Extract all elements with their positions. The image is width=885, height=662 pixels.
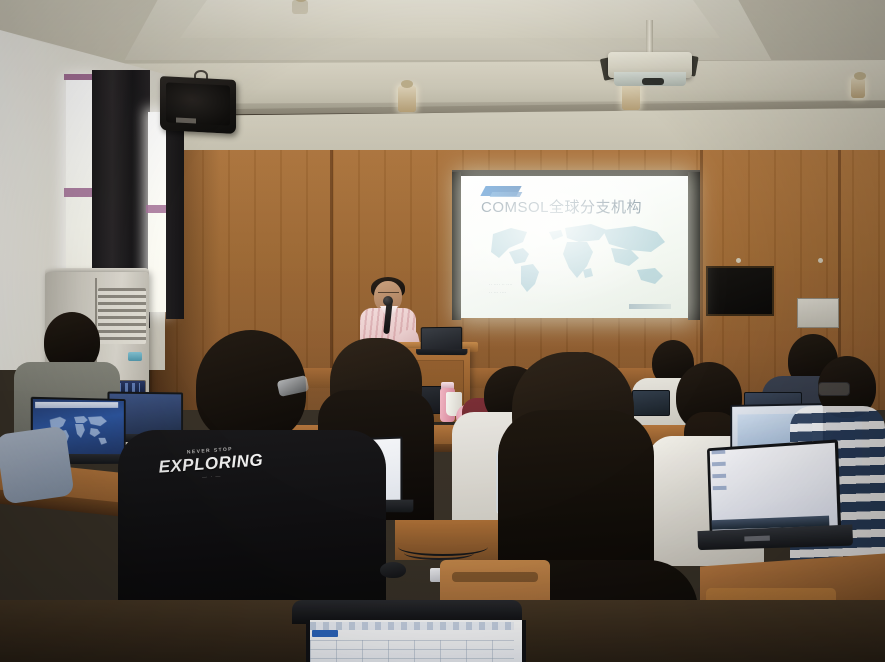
chair-backrest-slot [452,572,538,582]
lecture-hall-photo: COMSOL全球分支机构 ·· ···· ·· ···· ·· ··· ···· [0,0,885,662]
ac-vent-louvers [98,288,146,344]
spotlight-icon [622,84,640,110]
window-frame [64,74,94,80]
slide-footer-mark [629,304,671,309]
spotlight-icon [398,86,416,112]
computer-mouse-icon [380,562,406,578]
spreadsheet-active-tab[interactable] [312,630,338,637]
cable [404,546,474,560]
screen-border-left [452,172,461,320]
ceiling-recess-inner [180,0,720,38]
wall-hook-icon [736,258,741,263]
laptop-podium-base [416,349,467,355]
glasses-icon [818,382,850,396]
projector-mount-pole [646,20,653,56]
laptop-brand-badge [744,536,770,542]
laptop-back-row [632,390,670,416]
window-mullion [64,188,94,197]
slide-title: COMSOL全球分支机构 [481,196,681,217]
speaker-badge [176,117,196,123]
wall-hook-icon [818,258,823,263]
screen-border-right [688,172,700,320]
slide-bullet: ·· ···· ·· ···· [489,282,513,287]
ac-brand-badge [128,352,142,361]
spotlight-icon [851,78,865,98]
ceiling-fixture-icon [292,0,308,14]
projector-lens-icon [642,78,664,85]
blackout-curtain [166,104,184,319]
spreadsheet-ribbon[interactable] [310,622,514,630]
desktop-icons [712,450,727,490]
spreadsheet-grid[interactable] [310,640,514,662]
student-left-arm [0,425,75,504]
laptop-window-titlebar [35,402,118,408]
pull-down-projection-screen: COMSOL全球分支机构 ·· ···· ·· ···· ·· ··· ···· [461,176,688,318]
microphone-head-icon [383,296,393,306]
slide-bullet: ·· ··· ···· [489,290,507,295]
wall-panel [797,298,839,328]
wall-board [706,266,774,316]
